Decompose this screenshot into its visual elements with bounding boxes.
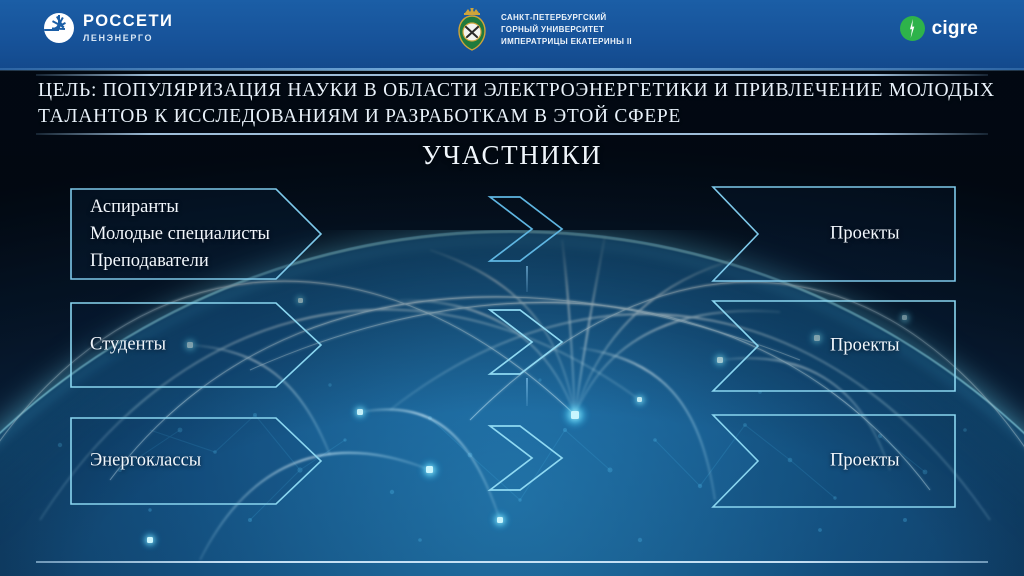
target-box-row2[interactable]: Проекты — [712, 300, 956, 392]
mining-logo-line3: ИМПЕРАТРИЦЫ ЕКАТЕРИНЫ II — [501, 37, 632, 47]
logo-rosseti-lenenergo: РОССЕТИ ЛЕНЭНЕРГО — [44, 13, 173, 43]
logo-mining-university: САНКТ-ПЕТЕРБУРГСКИЙ ГОРНЫЙ УНИВЕРСИТЕТ И… — [452, 8, 632, 52]
target-box-row1[interactable]: Проекты — [712, 186, 956, 282]
mining-logo-line2: ГОРНЫЙ УНИВЕРСИТЕТ — [501, 25, 632, 35]
target-label-row1: Проекты — [830, 221, 900, 248]
rosseti-logo-line2: ЛЕНЭНЕРГО — [83, 34, 173, 43]
section-title-participants: УЧАСТНИКИ — [0, 140, 1024, 171]
bottom-rule — [36, 561, 988, 563]
connector-line-row1 — [526, 266, 528, 292]
slide-goal-text: ЦЕЛЬ: ПОПУЛЯРИЗАЦИЯ НАУКИ В ОБЛАСТИ ЭЛЕК… — [38, 78, 998, 130]
title-rule-top — [36, 74, 988, 76]
rosseti-logo-line1: РОССЕТИ — [83, 13, 173, 30]
cigre-lightning-icon — [900, 16, 925, 41]
cigre-logo-text: cigre — [932, 18, 978, 40]
source-box-row3[interactable]: Энергоклассы — [70, 417, 322, 505]
rosseti-emblem-icon — [44, 13, 74, 43]
mining-university-crest-icon — [452, 8, 492, 52]
logo-cigre: cigre — [900, 16, 978, 41]
title-rule-bottom — [36, 133, 988, 135]
target-label-row3: Проекты — [830, 448, 900, 475]
connector-chevron-row3 — [488, 424, 564, 492]
source-label-row3: Энергоклассы — [90, 448, 201, 475]
header-highlight-line — [0, 68, 1024, 71]
source-label-row1: Аспиранты Молодые специалисты Преподават… — [90, 194, 270, 274]
source-box-row1[interactable]: Аспиранты Молодые специалисты Преподават… — [70, 188, 322, 280]
source-box-row2[interactable]: Студенты — [70, 302, 322, 388]
connector-line-row2 — [526, 378, 528, 406]
target-label-row2: Проекты — [830, 333, 900, 360]
connector-chevron-row1 — [488, 195, 564, 263]
connector-chevron-row2 — [488, 308, 564, 376]
source-label-row2: Студенты — [90, 332, 166, 359]
target-box-row3[interactable]: Проекты — [712, 414, 956, 508]
presentation-slide: РОССЕТИ ЛЕНЭНЕРГО САНКТ-ПЕТЕРБУРГСКИЙ ГО… — [0, 0, 1024, 576]
mining-logo-line1: САНКТ-ПЕТЕРБУРГСКИЙ — [501, 13, 632, 23]
